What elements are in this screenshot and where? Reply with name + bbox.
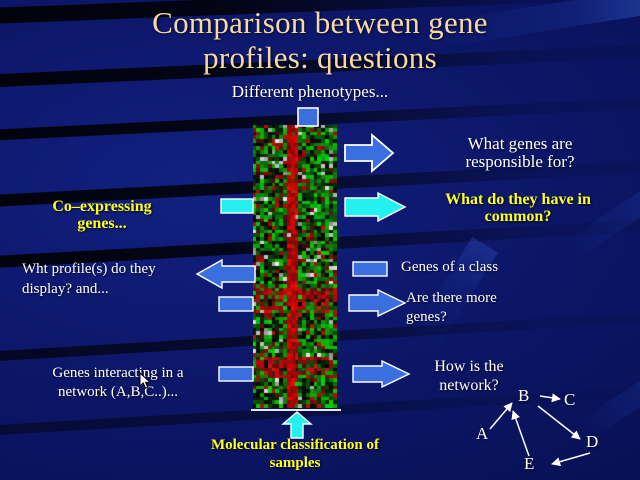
label-co-expressing-genes: Co–expressing genes... [22,198,182,232]
question-what-profiles-display-line-1: Wht profile(s) do they [22,261,156,277]
question-what-genes-responsible: What genes are responsible for? [410,135,630,171]
connector-bar-blue-right-1 [352,261,388,277]
connector-square-top [297,107,319,127]
question-are-there-more-genes-line-2: genes? [406,309,447,325]
label-co-expressing-genes-line-1: Co–expressing [52,198,151,215]
question-what-common-line-1: What do they have in [445,191,591,208]
presentation-slide: Comparison between gene profiles: questi… [0,0,640,480]
network-node-b: B [518,387,529,404]
connector-bar-blue-left-1 [218,296,254,312]
edge-b-d [538,406,580,439]
edge-d-e [552,453,590,464]
caption-molecular-classification: Molecular classification of samples [175,436,415,472]
network-node-d: D [586,433,598,450]
question-are-there-more-genes: Are there more genes? [406,289,497,327]
mouse-pointer-icon [139,372,152,395]
slide-title-line-2: profiles: questions [0,41,640,74]
network-node-c: C [564,391,575,408]
caption-molecular-classification-line-1: Molecular classification of [211,437,379,453]
label-genes-interacting-network-line-2: network (A,B,C..)... [58,384,178,400]
network-node-e: E [524,455,534,472]
question-what-genes-responsible-line-1: What genes are [468,134,573,153]
gene-network-diagram: A B C D E [468,383,640,475]
question-what-profiles-display: Wht profile(s) do they display? and... [22,259,156,299]
network-node-a: A [476,425,488,442]
question-how-is-the-network-line-1: How is the [434,358,503,375]
arrow-right-icon-q4 [348,289,406,317]
edge-a-b [490,403,512,429]
question-genes-of-a-class: Genes of a class [401,258,498,276]
question-what-common-line-2: common? [485,208,552,225]
connector-bar-cyan-left [220,198,254,214]
arrow-up-icon-bottom [282,411,312,439]
question-what-common: What do they have in common? [402,191,634,225]
arrow-right-icon-q5 [352,360,410,388]
label-genes-interacting-network: Genes interacting in a network (A,B,C..)… [18,364,218,402]
label-co-expressing-genes-line-2: genes... [77,215,126,232]
arrow-right-icon-q1 [344,133,394,173]
edge-e-b [513,411,529,456]
slide-title-line-1: Comparison between gene [0,6,640,39]
gene-network-edges [468,383,640,475]
microarray-heatmap-canvas [253,125,337,408]
caption-molecular-classification-line-2: samples [270,455,321,471]
caption-different-phenotypes: Different phenotypes... [180,83,440,101]
edge-b-c [540,396,560,399]
question-what-genes-responsible-line-2: responsible for? [465,152,574,171]
label-genes-interacting-network-line-1: Genes interacting in a [52,365,183,381]
question-are-there-more-genes-line-1: Are there more [406,290,497,306]
microarray-heatmap [253,125,337,408]
question-what-profiles-display-line-2: display? and... [22,281,109,297]
arrow-left-icon-q3 [196,259,256,289]
arrow-right-icon-q2 [344,192,406,222]
connector-bar-blue-left-2 [218,366,254,382]
